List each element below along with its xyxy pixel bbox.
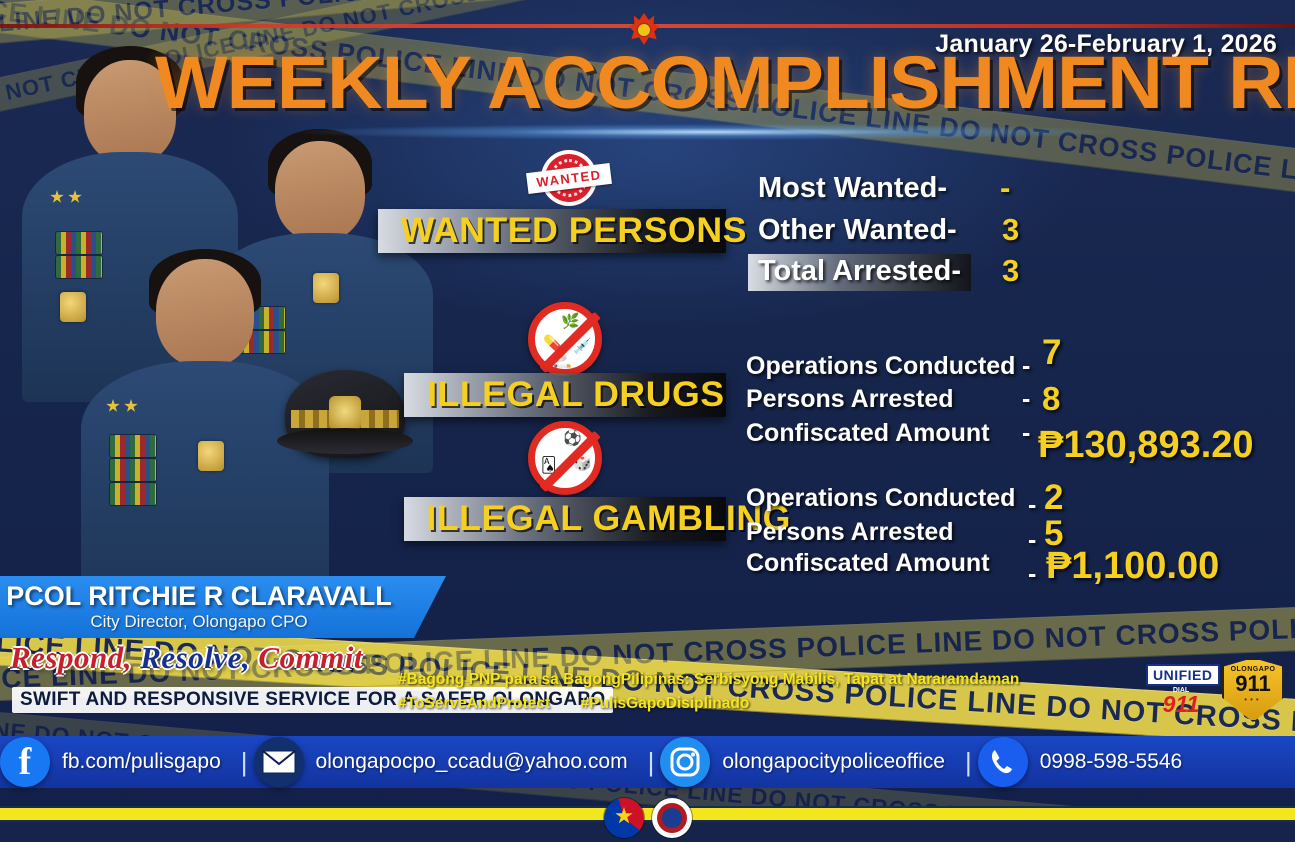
bottom-yellow-band	[0, 806, 1295, 822]
hashtags-block: #Bagong PNP para sa BagongPilipinas: Ser…	[398, 668, 1118, 716]
stat-label-drugs-arrested: Persons Arrested	[746, 385, 954, 414]
stat-label-gambling-operations: Operations Conducted	[746, 484, 1015, 513]
stat-dash-drugs-operations: -	[1022, 352, 1030, 381]
stat-label-drugs-confiscated: Confiscated Amount	[746, 419, 990, 448]
phone-number: 0998-598-5546	[1040, 750, 1182, 774]
stat-value-other-wanted: 3	[1002, 212, 1019, 248]
hashtag-line-2: #ToServeAndProtect #PulisGapoDisiplinado	[398, 692, 1118, 716]
contact-separator-1: |	[241, 747, 248, 778]
stat-label-gambling-confiscated: Confiscated Amount	[746, 549, 990, 578]
stat-value-total-arrested: 3	[1002, 253, 1019, 289]
email-icon	[254, 737, 304, 787]
stat-value-most-wanted: -	[1000, 170, 1010, 206]
stat-dash-gambling-confiscated: -	[1028, 560, 1036, 589]
phone-icon	[978, 737, 1028, 787]
official-name: PCOL RITCHIE R CLARAVALL	[0, 581, 410, 612]
title-glow-streak	[300, 124, 1120, 140]
official-role: City Director, Olongapo CPO	[0, 612, 410, 632]
contact-instagram[interactable]: olongapocitypoliceoffice	[660, 737, 959, 787]
stat-value-drugs-operations: 7	[1042, 333, 1061, 373]
stat-label-drugs-operations: Operations Conducted	[746, 352, 1015, 381]
phone-glyph	[988, 747, 1018, 777]
shield-dots: •••	[1224, 695, 1282, 704]
hashtag-pulisgapo-disiplinado: #PulisGapoDisiplinado	[580, 695, 749, 712]
shield-number: 911	[1224, 673, 1282, 695]
wanted-stamp-icon: WANTED	[527, 150, 611, 206]
unified-label: UNIFIED	[1146, 664, 1220, 686]
slogan-text: Respond, Resolve, Commit	[10, 640, 363, 676]
stat-dash-gambling-operations: -	[1028, 491, 1036, 520]
hashtag-line-1: #Bagong PNP para sa BagongPilipinas: Ser…	[398, 668, 1118, 692]
no-gambling-icon: ⚽ 🂡 🎲	[528, 421, 602, 495]
category-label-illegal-gambling: ILLEGAL GAMBLING	[404, 497, 726, 541]
slogan-part-2: Resolve,	[140, 640, 250, 675]
stat-label-gambling-arrested: Persons Arrested	[746, 518, 954, 547]
weekly-accomplishment-poster: POLICE LINE DO NOT CROSS POLICE LINE DO …	[0, 0, 1295, 842]
hashtag-to-serve-and-protect: #ToServeAndProtect	[398, 695, 550, 712]
stat-value-drugs-confiscated: ₱130,893.20	[1038, 424, 1254, 467]
page-title: WEEKLY ACCOMPLISHMENT REPORT	[155, 46, 1295, 120]
no-drugs-icon: 🌿 💊 💉 🚬	[528, 302, 602, 376]
stat-label-most-wanted: Most Wanted-	[758, 172, 947, 205]
facebook-handle: fb.com/pulisgapo	[62, 750, 221, 774]
instagram-glyph	[669, 746, 701, 778]
unified-number: 911	[1146, 694, 1216, 714]
contact-separator-3: |	[965, 747, 972, 778]
facebook-icon: f	[0, 737, 50, 787]
stat-dash-gambling-arrested: -	[1028, 526, 1036, 555]
philippine-sun-emblem-icon	[604, 798, 644, 838]
slogan-part-1: Respond,	[10, 640, 132, 675]
stat-label-total-arrested: Total Arrested-	[748, 254, 971, 291]
ceremonial-cap	[285, 370, 405, 458]
stat-value-drugs-arrested: 8	[1042, 380, 1060, 418]
category-label-illegal-drugs: ILLEGAL DRUGS	[404, 373, 726, 417]
bottom-navy-strip	[0, 822, 1295, 842]
stat-value-gambling-operations: 2	[1044, 478, 1063, 518]
stat-dash-drugs-arrested: -	[1022, 385, 1030, 414]
olongapo-cpo-seal-icon	[652, 798, 692, 838]
category-label-wanted-persons: WANTED PERSONS	[378, 209, 726, 253]
stat-value-gambling-confiscated: ₱1,100.00	[1046, 545, 1219, 588]
contact-bar: f fb.com/pulisgapo | olongapocpo_ccadu@y…	[0, 736, 1295, 788]
envelope-glyph	[262, 750, 296, 774]
instagram-handle: olongapocitypoliceoffice	[722, 750, 945, 774]
contact-phone[interactable]: 0998-598-5546	[978, 737, 1196, 787]
stat-dash-drugs-confiscated: -	[1022, 419, 1030, 448]
contact-separator-2: |	[648, 747, 655, 778]
instagram-icon	[660, 737, 710, 787]
unified-911-badge: UNIFIED DIAL 911	[1146, 664, 1216, 714]
slogan-part-3: Commit	[258, 640, 363, 675]
contact-email[interactable]: olongapocpo_ccadu@yahoo.com	[254, 737, 642, 787]
official-name-banner: PCOL RITCHIE R CLARAVALL City Director, …	[0, 576, 446, 638]
stat-label-other-wanted: Other Wanted-	[758, 214, 957, 247]
contact-facebook[interactable]: f fb.com/pulisgapo	[0, 737, 235, 787]
email-address: olongapocpo_ccadu@yahoo.com	[316, 750, 628, 774]
